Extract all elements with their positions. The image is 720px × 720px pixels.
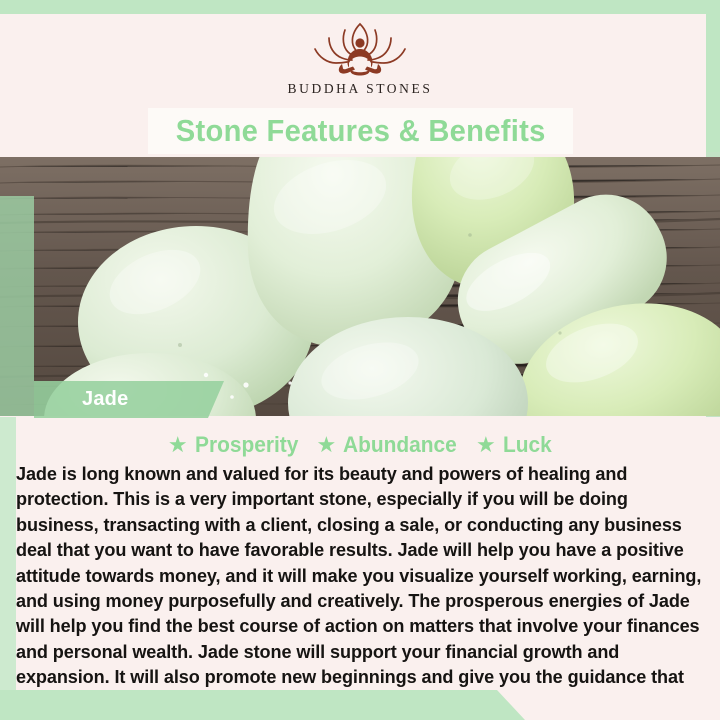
benefits-row: ★ Prosperity ★ Abundance ★ Luck (16, 430, 706, 460)
benefit-label: Prosperity (195, 432, 298, 458)
benefit-item-prosperity: ★ Prosperity (168, 432, 304, 458)
benefit-label: Luck (503, 432, 552, 458)
decorative-strip-top (0, 0, 720, 14)
decorative-strip-left-lower (0, 417, 16, 702)
stone-photo (0, 157, 720, 416)
star-icon: ★ (316, 434, 336, 456)
stone-name: Jade (82, 388, 128, 411)
decorative-strip-bottom (0, 690, 525, 720)
benefit-item-abundance: ★ Abundance (316, 432, 463, 458)
star-icon: ★ (168, 434, 188, 456)
decorative-strip-left-photo (0, 196, 34, 416)
brand-name: BUDDHA STONES (288, 81, 433, 97)
stone-info-poster: BUDDHA STONES Stone Features & Benefits (0, 0, 720, 720)
star-icon: ★ (476, 434, 496, 456)
page-title: Stone Features & Benefits (176, 113, 546, 149)
stone-description: Jade is long known and valued for its be… (16, 462, 708, 716)
title-banner: Stone Features & Benefits (148, 108, 573, 154)
benefit-label: Abundance (343, 432, 457, 458)
brand-logo: BUDDHA STONES (0, 18, 720, 110)
benefit-item-luck: ★ Luck (476, 432, 554, 458)
stone-name-banner: Jade (34, 381, 224, 418)
lotus-meditating-figure-icon (285, 18, 435, 80)
